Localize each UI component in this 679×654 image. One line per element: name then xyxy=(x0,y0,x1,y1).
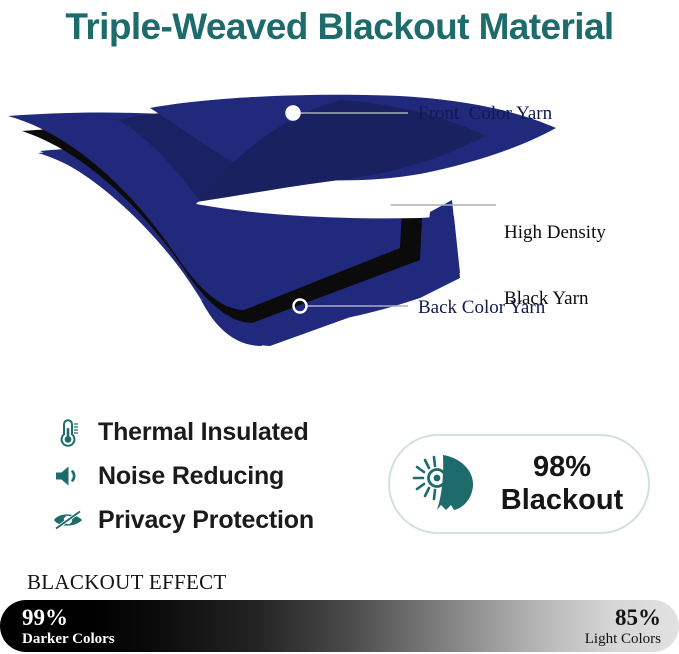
blackout-effect-heading: BLACKOUT EFFECT xyxy=(27,570,227,595)
eye-slash-icon xyxy=(48,502,88,538)
darker-colors-stat: 99% Darker Colors xyxy=(22,606,115,648)
light-colors-label: Light Colors xyxy=(585,630,661,648)
light-colors-percent: 85% xyxy=(585,606,661,630)
feature-list: Thermal Insulated Noise Reducing Privacy… xyxy=(48,410,368,542)
light-colors-stat: 85% Light Colors xyxy=(585,606,661,648)
darker-colors-percent: 99% xyxy=(22,606,115,630)
blackout-effect-gradient-bar: 99% Darker Colors 85% Light Colors xyxy=(0,600,679,652)
blackout-percent: 98% xyxy=(533,451,591,483)
callout-label-back: Back Color Yarn xyxy=(418,297,545,319)
sun-blocked-by-curtain-icon xyxy=(404,449,488,519)
feature-label-thermal-insulated: Thermal Insulated xyxy=(98,418,309,447)
blackout-badge: 98% Blackout xyxy=(388,434,650,534)
feature-label-privacy-protection: Privacy Protection xyxy=(98,506,314,535)
callout-label-front: Front Color Yarn xyxy=(418,103,552,125)
thermometer-icon xyxy=(48,414,88,450)
blackout-badge-text: 98% Blackout xyxy=(488,451,648,517)
speaker-sound-icon xyxy=(48,458,88,494)
page-title: Triple-Weaved Blackout Material xyxy=(0,4,679,50)
darker-colors-label: Darker Colors xyxy=(22,630,115,648)
feature-label-noise-reducing: Noise Reducing xyxy=(98,462,284,491)
blackout-word: Blackout xyxy=(501,484,623,516)
feature-item-privacy-protection: Privacy Protection xyxy=(48,498,368,542)
callout-label-black-line1: High Density xyxy=(504,222,606,244)
feature-item-thermal-insulated: Thermal Insulated xyxy=(48,410,368,454)
feature-item-noise-reducing: Noise Reducing xyxy=(48,454,368,498)
